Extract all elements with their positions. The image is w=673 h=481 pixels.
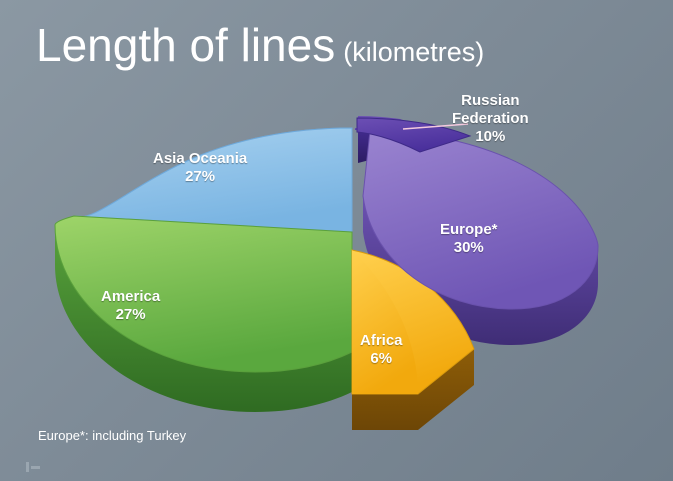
slice-label-america: America 27% bbox=[101, 288, 160, 324]
slice-value-russian-federation: 10% bbox=[452, 128, 529, 146]
slice-label-asia-oceania: Asia Oceania 27% bbox=[153, 150, 247, 186]
slice-label-russian-federation-line2: Federation bbox=[452, 110, 529, 127]
slice-value-america: 27% bbox=[101, 306, 160, 324]
slice-label-europe-text: Europe* bbox=[440, 221, 498, 238]
slice-label-africa: Africa 6% bbox=[360, 332, 403, 368]
slide: Length of lines(kilometres) bbox=[0, 0, 673, 481]
slice-value-africa: 6% bbox=[360, 350, 403, 368]
decorative-mark-1 bbox=[26, 462, 29, 472]
footnote: Europe*: including Turkey bbox=[38, 428, 186, 443]
slice-label-russian-federation-line1: Russian bbox=[461, 92, 519, 109]
slice-label-europe: Europe* 30% bbox=[440, 221, 498, 257]
slice-label-america-text: America bbox=[101, 288, 160, 305]
slice-label-africa-text: Africa bbox=[360, 332, 403, 349]
slice-label-asia-oceania-text: Asia Oceania bbox=[153, 150, 247, 167]
pie-chart bbox=[0, 0, 673, 481]
slice-value-europe: 30% bbox=[440, 239, 498, 257]
decorative-mark-2 bbox=[31, 466, 40, 469]
slice-label-russian-federation: Russian Federation 10% bbox=[452, 92, 529, 146]
slice-value-asia-oceania: 27% bbox=[153, 168, 247, 186]
